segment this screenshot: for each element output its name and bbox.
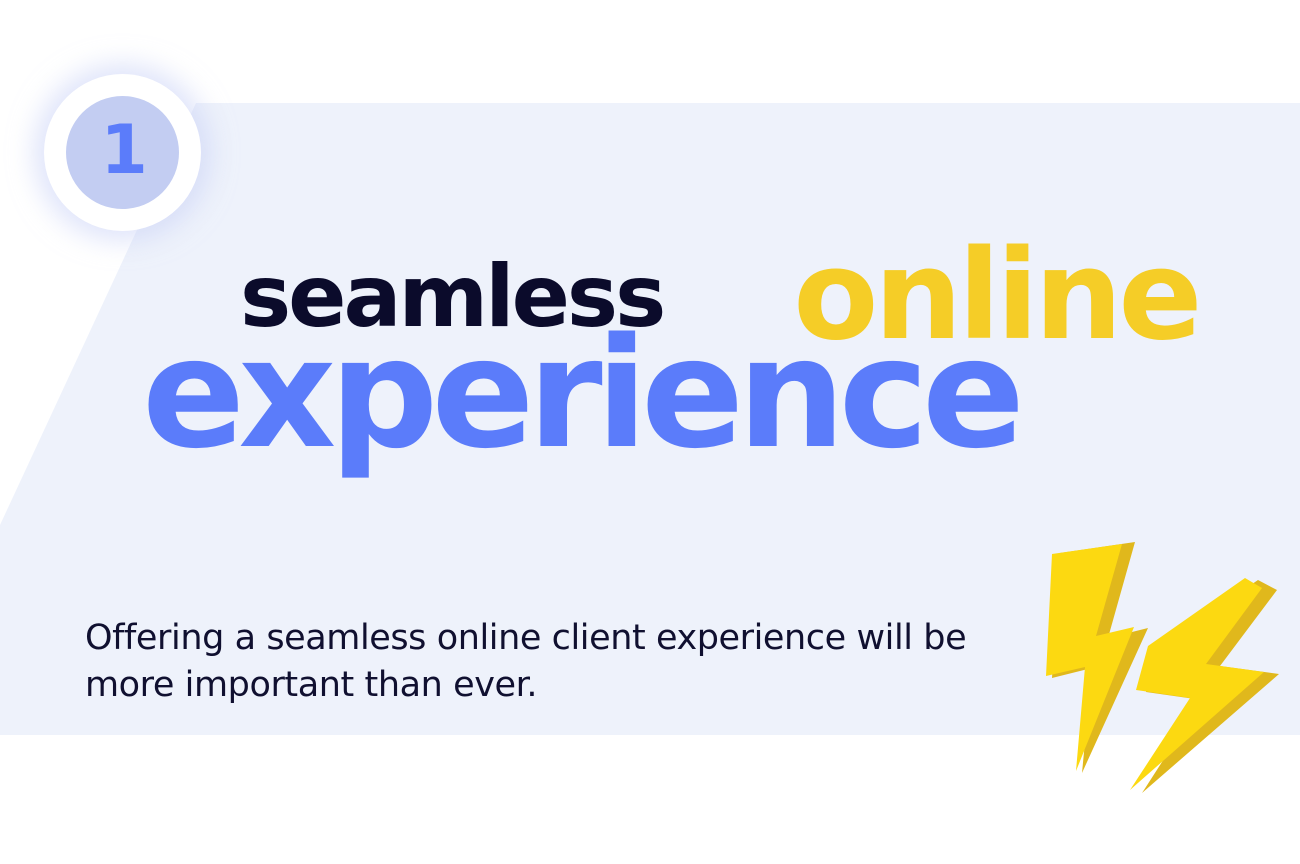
step-number-badge-inner: 1 [66, 96, 179, 209]
step-number-label: 1 [101, 117, 147, 185]
body-paragraph: Offering a seamless online client experi… [85, 615, 1015, 708]
step-number-badge: 1 [44, 74, 201, 231]
headline-line-2: experience [142, 318, 1018, 470]
slide-canvas: 1 seamlessonline experience Offering a s… [0, 0, 1300, 864]
lightning-bolt-icon [1030, 528, 1300, 808]
headline-word-experience: experience [142, 318, 1018, 470]
